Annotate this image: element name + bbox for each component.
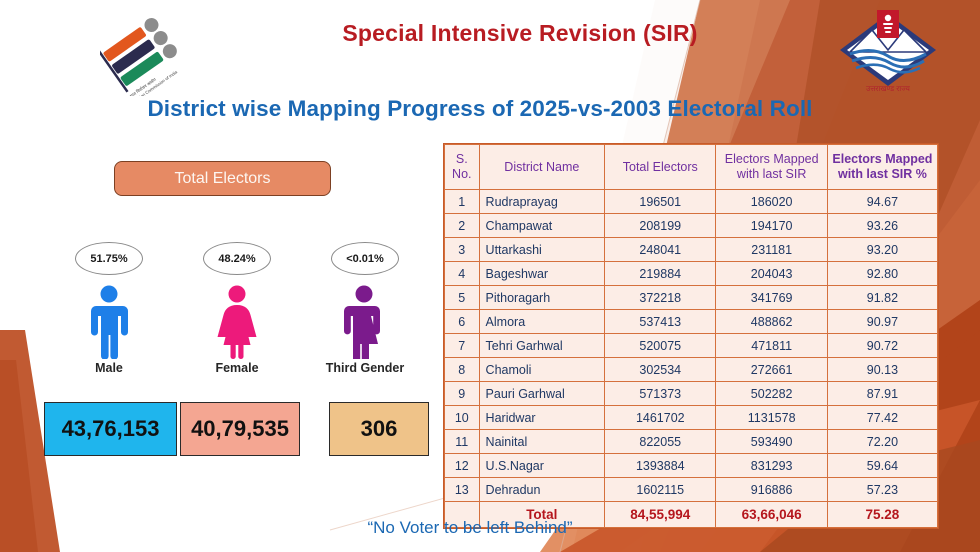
row-mapped: 194170 bbox=[716, 214, 827, 238]
gender-block-female: 48.24% Female bbox=[177, 242, 297, 375]
row-pct: 93.20 bbox=[827, 238, 937, 262]
row-total-electors: 1393884 bbox=[605, 454, 716, 478]
row-sno: 13 bbox=[445, 478, 480, 502]
row-total-electors: 196501 bbox=[605, 190, 716, 214]
female-label: Female bbox=[177, 361, 297, 375]
row-total-electors: 1602115 bbox=[605, 478, 716, 502]
table-row: 2Champawat20819919417093.26 bbox=[445, 214, 938, 238]
male-label: Male bbox=[49, 361, 169, 375]
row-sno: 4 bbox=[445, 262, 480, 286]
third-gender-percent-badge: <0.01% bbox=[331, 242, 399, 275]
table-row: 6Almora53741348886290.97 bbox=[445, 310, 938, 334]
row-mapped: 231181 bbox=[716, 238, 827, 262]
row-district: Tehri Garhwal bbox=[479, 334, 605, 358]
row-mapped: 341769 bbox=[716, 286, 827, 310]
male-percent-badge: 51.75% bbox=[75, 242, 143, 275]
row-total-electors: 248041 bbox=[605, 238, 716, 262]
row-mapped: 502282 bbox=[716, 382, 827, 406]
row-district: Haridwar bbox=[479, 406, 605, 430]
row-district: Pithoragarh bbox=[479, 286, 605, 310]
gender-block-male: 51.75% Male bbox=[49, 242, 169, 375]
col-header-sno-line1: S. bbox=[456, 152, 468, 166]
row-district: Rudraprayag bbox=[479, 190, 605, 214]
third-gender-total-value: 306 bbox=[329, 402, 429, 456]
col-header-mapped-line2: with last SIR bbox=[737, 167, 806, 181]
table-row: 9Pauri Garhwal57137350228287.91 bbox=[445, 382, 938, 406]
row-district: Pauri Garhwal bbox=[479, 382, 605, 406]
district-mapping-table: S. No. District Name Total Electors Elec… bbox=[443, 143, 939, 529]
table-row: 1Rudraprayag19650118602094.67 bbox=[445, 190, 938, 214]
col-header-total-electors: Total Electors bbox=[605, 145, 716, 190]
table-row: 3Uttarkashi24804123118193.20 bbox=[445, 238, 938, 262]
table-row: 12U.S.Nagar139388483129359.64 bbox=[445, 454, 938, 478]
row-pct: 87.91 bbox=[827, 382, 937, 406]
col-header-sno-line2: No. bbox=[452, 167, 471, 181]
table-row: 7Tehri Garhwal52007547181190.72 bbox=[445, 334, 938, 358]
row-mapped: 593490 bbox=[716, 430, 827, 454]
row-district: Chamoli bbox=[479, 358, 605, 382]
male-total-value: 43,76,153 bbox=[44, 402, 177, 456]
total-row-pct: 75.28 bbox=[827, 502, 937, 528]
table-row: 5Pithoragarh37221834176991.82 bbox=[445, 286, 938, 310]
row-pct: 72.20 bbox=[827, 430, 937, 454]
table-body: 1Rudraprayag19650118602094.672Champawat2… bbox=[445, 190, 938, 502]
table-row: 11Nainital82205559349072.20 bbox=[445, 430, 938, 454]
table-row: 4Bageshwar21988420404392.80 bbox=[445, 262, 938, 286]
row-pct: 91.82 bbox=[827, 286, 937, 310]
gender-block-third: <0.01% Third Gender bbox=[305, 242, 425, 375]
col-header-sno: S. No. bbox=[445, 145, 480, 190]
third-gender-figure-icon bbox=[305, 281, 425, 359]
table-row: 8Chamoli30253427266190.13 bbox=[445, 358, 938, 382]
row-district: Dehradun bbox=[479, 478, 605, 502]
row-total-electors: 537413 bbox=[605, 310, 716, 334]
col-header-mapped-pct-line2: with last SIR % bbox=[838, 167, 927, 181]
row-sno: 5 bbox=[445, 286, 480, 310]
total-electors-pill: Total Electors bbox=[114, 161, 331, 196]
col-header-mapped: Electors Mapped with last SIR bbox=[716, 145, 827, 190]
footer-tagline: “No Voter to be left Behind” bbox=[180, 518, 760, 538]
table-row: 10Haridwar1461702113157877.42 bbox=[445, 406, 938, 430]
row-pct: 90.97 bbox=[827, 310, 937, 334]
row-total-electors: 372218 bbox=[605, 286, 716, 310]
row-sno: 6 bbox=[445, 310, 480, 334]
row-sno: 8 bbox=[445, 358, 480, 382]
female-percent-badge: 48.24% bbox=[203, 242, 271, 275]
slide-root: भारत निर्वाचन आयोग Election Commission o… bbox=[0, 0, 980, 552]
col-header-district: District Name bbox=[479, 145, 605, 190]
row-total-electors: 520075 bbox=[605, 334, 716, 358]
col-header-mapped-pct: Electors Mapped with last SIR % bbox=[827, 145, 937, 190]
row-total-electors: 1461702 bbox=[605, 406, 716, 430]
row-pct: 94.67 bbox=[827, 190, 937, 214]
row-district: Bageshwar bbox=[479, 262, 605, 286]
table-row: 13Dehradun160211591688657.23 bbox=[445, 478, 938, 502]
row-sno: 7 bbox=[445, 334, 480, 358]
row-pct: 57.23 bbox=[827, 478, 937, 502]
row-pct: 77.42 bbox=[827, 406, 937, 430]
row-mapped: 471811 bbox=[716, 334, 827, 358]
row-pct: 59.64 bbox=[827, 454, 937, 478]
row-pct: 92.80 bbox=[827, 262, 937, 286]
row-total-electors: 208199 bbox=[605, 214, 716, 238]
page-subtitle: District wise Mapping Progress of 2025-v… bbox=[60, 96, 900, 122]
state-emblem-caption: उत्तराखण्ड राज्य bbox=[866, 84, 910, 92]
row-mapped: 916886 bbox=[716, 478, 827, 502]
row-pct: 93.26 bbox=[827, 214, 937, 238]
row-sno: 12 bbox=[445, 454, 480, 478]
row-sno: 3 bbox=[445, 238, 480, 262]
row-district: Champawat bbox=[479, 214, 605, 238]
row-district: Uttarkashi bbox=[479, 238, 605, 262]
row-mapped: 204043 bbox=[716, 262, 827, 286]
row-mapped: 488862 bbox=[716, 310, 827, 334]
col-header-mapped-pct-line1: Electors Mapped bbox=[832, 152, 932, 166]
table-header-row: S. No. District Name Total Electors Elec… bbox=[445, 145, 938, 190]
row-mapped: 186020 bbox=[716, 190, 827, 214]
row-district: U.S.Nagar bbox=[479, 454, 605, 478]
row-sno: 9 bbox=[445, 382, 480, 406]
female-figure-icon bbox=[177, 281, 297, 359]
row-sno: 10 bbox=[445, 406, 480, 430]
row-sno: 2 bbox=[445, 214, 480, 238]
row-total-electors: 571373 bbox=[605, 382, 716, 406]
male-figure-icon bbox=[49, 281, 169, 359]
female-total-value: 40,79,535 bbox=[180, 402, 300, 456]
row-district: Almora bbox=[479, 310, 605, 334]
row-mapped: 1131578 bbox=[716, 406, 827, 430]
row-mapped: 831293 bbox=[716, 454, 827, 478]
third-gender-label: Third Gender bbox=[305, 361, 425, 375]
row-pct: 90.72 bbox=[827, 334, 937, 358]
uttarakhand-state-emblem: उत्तराखण्ड राज्य bbox=[832, 6, 944, 92]
row-sno: 11 bbox=[445, 430, 480, 454]
row-pct: 90.13 bbox=[827, 358, 937, 382]
row-sno: 1 bbox=[445, 190, 480, 214]
row-total-electors: 219884 bbox=[605, 262, 716, 286]
election-commission-of-india-logo: भारत निर्वाचन आयोग Election Commission o… bbox=[100, 8, 192, 96]
row-district: Nainital bbox=[479, 430, 605, 454]
col-header-mapped-line1: Electors Mapped bbox=[725, 152, 819, 166]
row-total-electors: 822055 bbox=[605, 430, 716, 454]
page-title: Special Intensive Revision (SIR) bbox=[230, 20, 810, 47]
row-mapped: 272661 bbox=[716, 358, 827, 382]
row-total-electors: 302534 bbox=[605, 358, 716, 382]
